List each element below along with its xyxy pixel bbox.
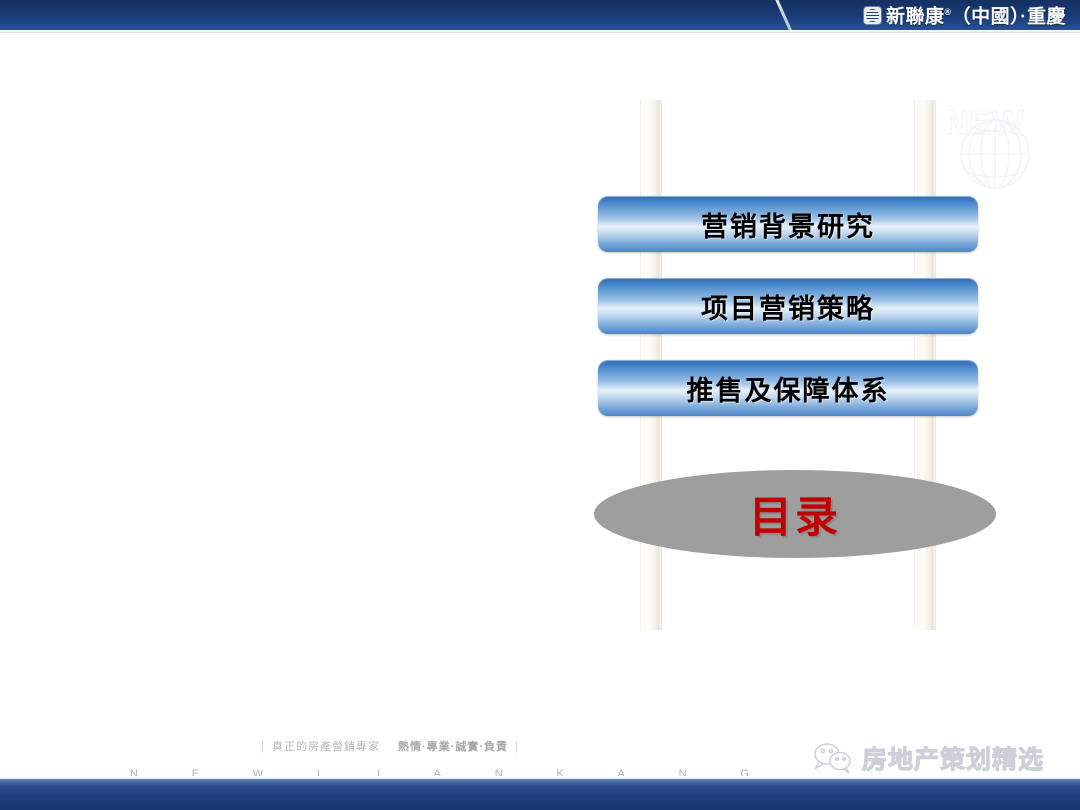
footer-separator-left: |	[261, 741, 265, 753]
brand-lockup: 新聯康®（中國）·重慶	[864, 0, 1066, 30]
header-diagonal-accent	[771, 0, 799, 30]
footer-tagline-inner: |真正的房產營銷專家熱情·專業·誠實·負責|	[254, 741, 526, 753]
agenda-item-1[interactable]: 营销背景研究	[598, 196, 978, 252]
presentation-slide: 新聯康®（中國）·重慶 NEW 目录 营销背景研究 项目营销策略	[0, 0, 1080, 810]
footer-strip	[0, 779, 1080, 810]
page-title: 目录	[594, 470, 996, 558]
globe-watermark-text: NEW	[948, 104, 1025, 142]
footer-tagline: |真正的房產營銷專家熱情·專業·誠實·負責|	[0, 738, 1080, 754]
globe-watermark: NEW	[948, 96, 1063, 196]
agenda-menu: 营销背景研究 项目营销策略 推售及保障体系	[598, 196, 978, 442]
brand-text: 新聯康®（中國）·重慶	[886, 0, 1066, 33]
globe-grid-icon	[961, 120, 1029, 188]
agenda-item-2[interactable]: 项目营销策略	[598, 278, 978, 334]
brand-name: 新聯康	[886, 7, 945, 28]
registered-mark-icon: ®	[945, 7, 952, 17]
agenda-item-3-label: 推售及保障体系	[687, 369, 890, 408]
footer-tagline-left: 真正的房產營銷專家	[272, 741, 380, 753]
agenda-item-3[interactable]: 推售及保障体系	[598, 360, 978, 416]
agenda-item-2-label: 项目营销策略	[701, 287, 875, 326]
brand-region: （中國）·重慶	[952, 7, 1066, 28]
footer-tagline-right: 熱情·專業·誠實·負責	[398, 741, 508, 753]
agenda-item-1-label: 营销背景研究	[701, 205, 875, 244]
footer-separator-right: |	[515, 741, 519, 753]
newlinkon-globe-logo-icon	[864, 7, 881, 24]
